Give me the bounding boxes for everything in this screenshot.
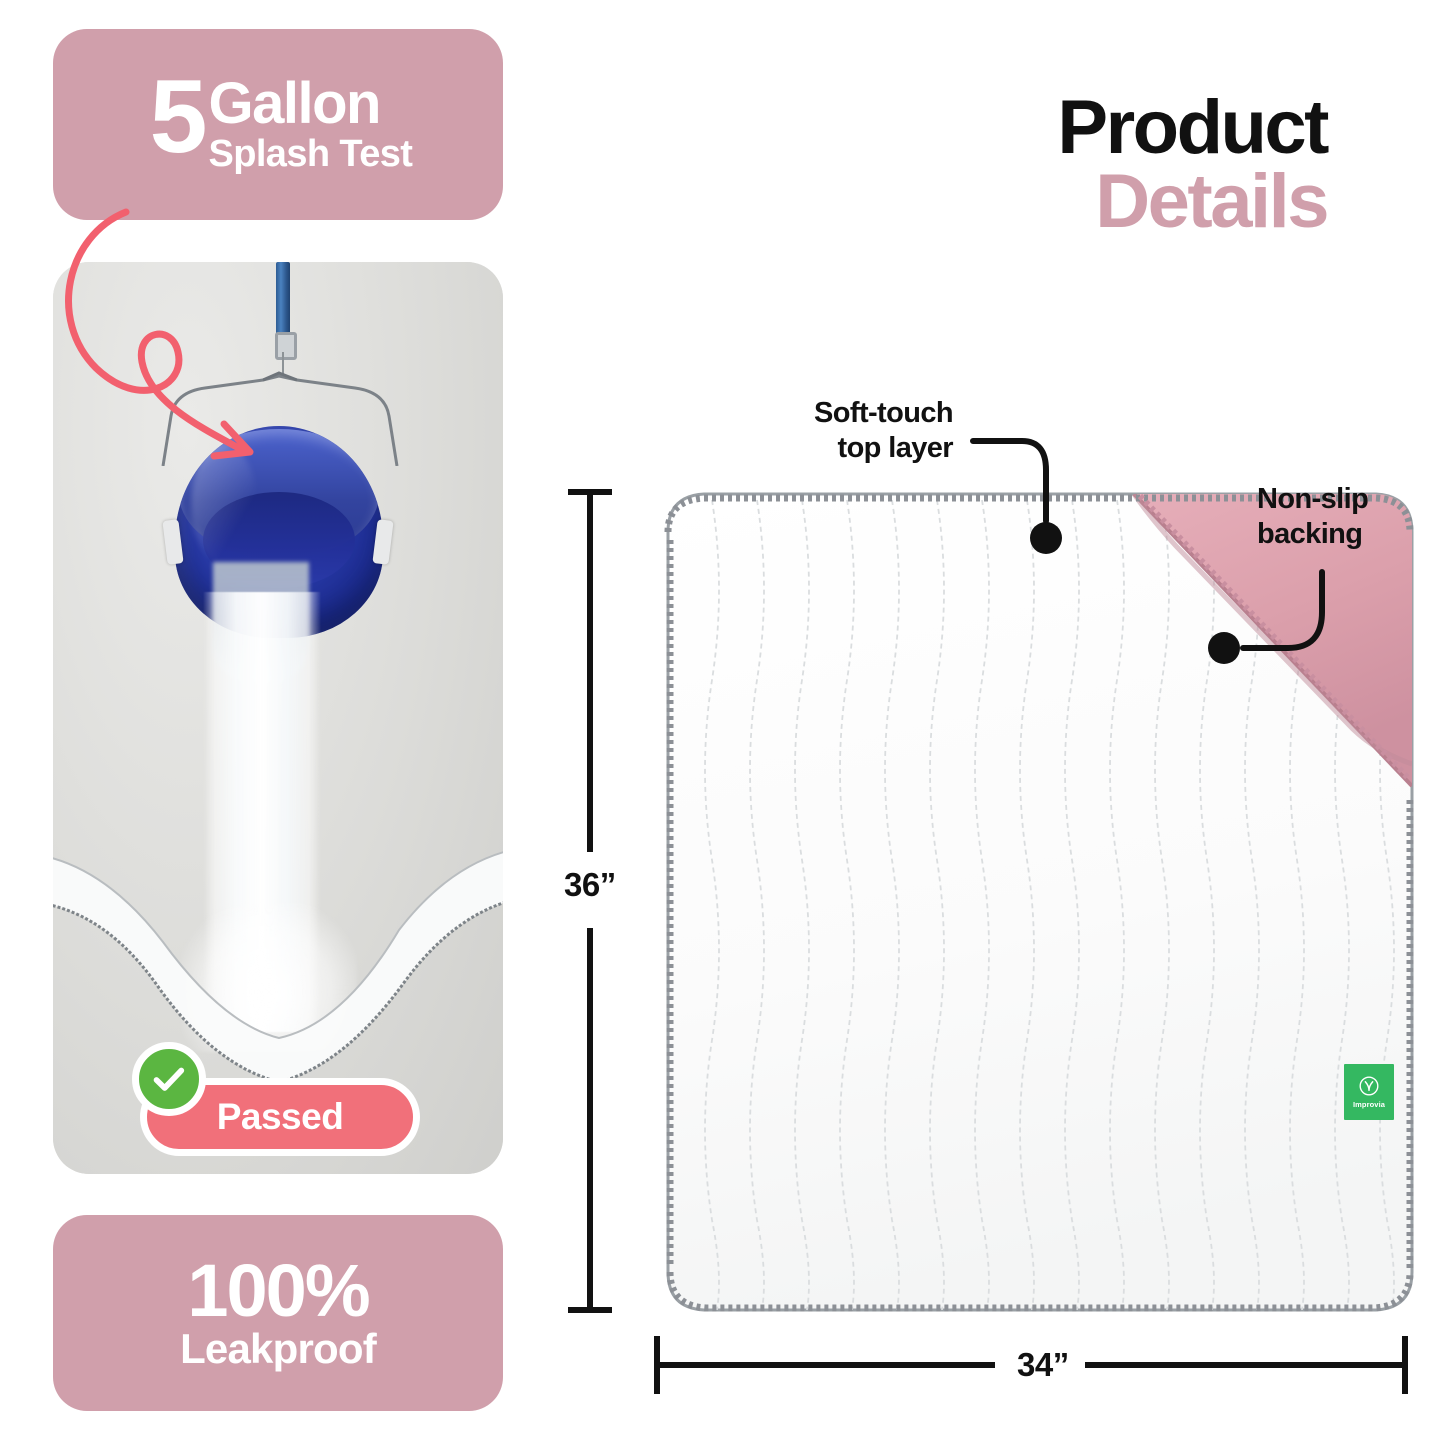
- leader-line-soft-touch: [973, 441, 1046, 521]
- leakproof-value: 100%: [187, 1256, 368, 1326]
- strap-clip: [275, 332, 297, 360]
- check-circle-icon: [132, 1042, 206, 1116]
- mat-sling: [53, 802, 503, 1102]
- bucket-highlight: [191, 444, 257, 564]
- splash-test-badge-content: 5 Gallon Splash Test: [150, 74, 413, 175]
- dimension-height-label: 36”: [556, 866, 624, 904]
- leakproof-badge: 100% Leakproof: [53, 1215, 503, 1411]
- page-title: Product Details: [1057, 92, 1327, 239]
- splash-test-badge: 5 Gallon Splash Test: [53, 29, 503, 220]
- splash-test-number: 5: [150, 70, 205, 166]
- callout-non-slip-line2: backing: [1257, 517, 1445, 552]
- splash-test-photo: [53, 262, 503, 1174]
- infographic-canvas: 5 Gallon Splash Test: [0, 0, 1445, 1445]
- callout-soft-touch-line1: Soft-touch: [773, 396, 953, 431]
- dimension-width-label: 34”: [1009, 1346, 1077, 1384]
- mat-top-surface: [668, 494, 1412, 1310]
- leader-dot-soft-touch: [1030, 522, 1062, 554]
- callout-soft-touch-top-layer: Soft-touch top layer: [773, 396, 953, 466]
- callout-non-slip-line1: Non-slip: [1257, 482, 1445, 517]
- page-title-line2: Details: [1057, 165, 1327, 239]
- page-title-line1: Product: [1057, 92, 1327, 165]
- serged-edge-binding: [668, 498, 1410, 1308]
- hanging-strap: [276, 262, 290, 334]
- leakproof-label: Leakproof: [180, 1328, 376, 1370]
- leader-line-non-slip: [1243, 572, 1322, 648]
- passed-label: Passed: [217, 1096, 344, 1138]
- dimension-lines: [568, 492, 1405, 1394]
- passed-badge: Passed: [140, 1078, 420, 1156]
- improvia-logo-icon: [1358, 1075, 1380, 1097]
- leader-dot-non-slip: [1208, 632, 1240, 664]
- callout-non-slip-backing: Non-slip backing: [1257, 482, 1445, 552]
- splash-test-subtitle: Splash Test: [208, 135, 412, 175]
- callout-soft-touch-line2: top layer: [773, 431, 953, 466]
- splash-test-unit: Gallon: [208, 76, 412, 131]
- splash-test-text-group: Gallon Splash Test: [208, 76, 412, 175]
- brand-tag-name: Improvia: [1353, 1100, 1385, 1109]
- brand-tag: Improvia: [1344, 1064, 1394, 1120]
- quilt-stitching: [705, 500, 1394, 1330]
